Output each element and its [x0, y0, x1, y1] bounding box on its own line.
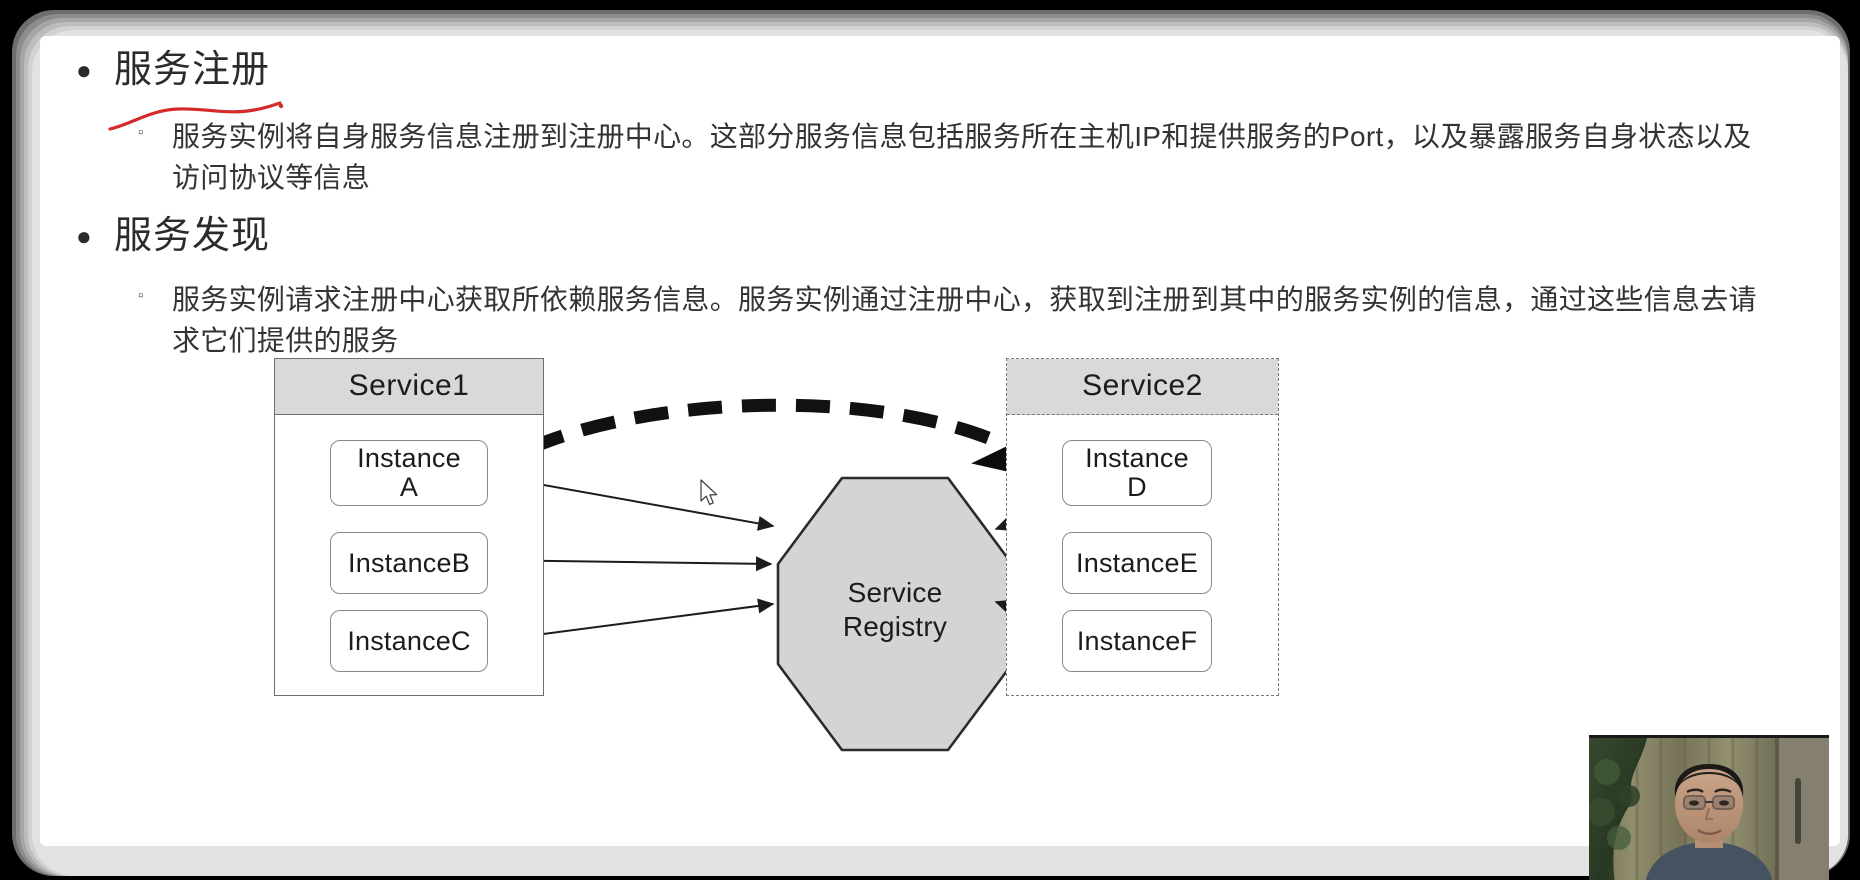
bullet-dot-icon: ● [68, 50, 106, 90]
instance-d-line1: Instance [1085, 444, 1189, 473]
service2-header: Service2 [1007, 359, 1278, 415]
service1-header: Service1 [275, 359, 543, 415]
section-body-1: ▫ 服务实例将自身服务信息注册到注册中心。这部分服务信息包括服务所在主机IP和提… [138, 116, 1772, 199]
instance-b-box[interactable]: InstanceB [330, 532, 488, 594]
instance-f-box[interactable]: InstanceF [1062, 610, 1212, 672]
registry-line2: Registry [795, 610, 995, 644]
instance-e-box[interactable]: InstanceE [1062, 532, 1212, 594]
sub-bullet-square-icon: ▫ [138, 116, 172, 150]
bullet-dot-icon: ● [68, 216, 106, 256]
mouse-cursor-icon [700, 479, 722, 509]
section-heading-1: ● 服务注册 [68, 50, 270, 92]
section-body-2-text: 服务实例请求注册中心获取所依赖服务信息。服务实例通过注册中心，获取到注册到其中的… [172, 279, 1772, 362]
section-heading-1-label: 服务注册 [106, 50, 270, 92]
section-body-2: ▫ 服务实例请求注册中心获取所依赖服务信息。服务实例通过注册中心，获取到注册到其… [138, 279, 1772, 362]
service-registry-label: Service Registry [795, 576, 995, 644]
registry-line1: Service [795, 576, 995, 610]
section-heading-2-label: 服务发现 [106, 216, 270, 258]
edge-instance-a-to-instance-d-dashed [484, 405, 1055, 476]
instance-c-box[interactable]: InstanceC [330, 610, 488, 672]
section-heading-2: ● 服务发现 [68, 216, 270, 258]
instance-a-box[interactable]: Instance A [330, 440, 488, 506]
instance-f-line1: InstanceF [1077, 627, 1197, 656]
instance-e-line1: InstanceE [1076, 549, 1198, 578]
instance-b-line1: InstanceB [348, 549, 470, 578]
screen-root: ● 服务注册 ▫ 服务实例将自身服务信息注册到注册中心。这部分服务信息包括服务所… [0, 0, 1860, 880]
instance-a-line2: A [357, 473, 461, 502]
instance-c-line1: InstanceC [347, 627, 470, 656]
sub-bullet-square-icon: ▫ [138, 279, 172, 313]
webcam-overlay[interactable] [1589, 735, 1829, 880]
section-body-1-text: 服务实例将自身服务信息注册到注册中心。这部分服务信息包括服务所在主机IP和提供服… [172, 116, 1772, 199]
instance-d-line2: D [1085, 473, 1189, 502]
slide-surface: ● 服务注册 ▫ 服务实例将自身服务信息注册到注册中心。这部分服务信息包括服务所… [40, 36, 1840, 846]
instance-a-line1: Instance [357, 444, 461, 473]
instance-d-box[interactable]: Instance D [1062, 440, 1212, 506]
